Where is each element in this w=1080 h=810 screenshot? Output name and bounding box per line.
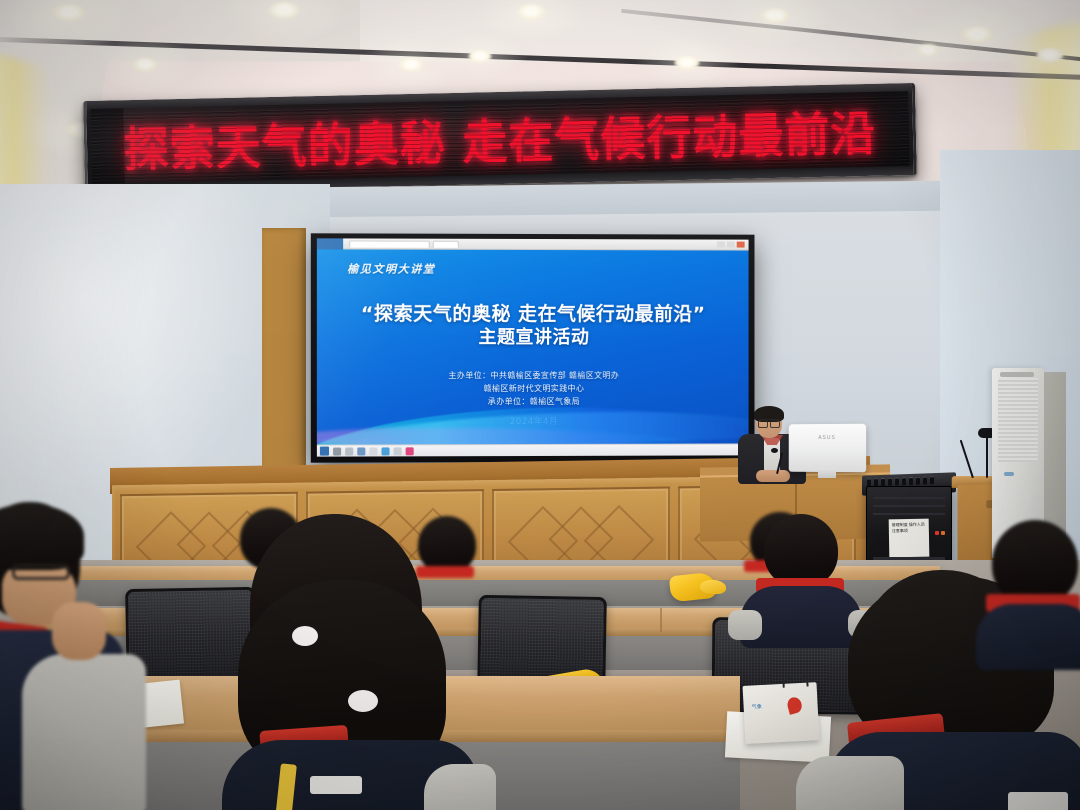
yellow-cap-1	[669, 572, 717, 603]
minimize-icon[interactable]	[717, 242, 725, 248]
monitor-brand-label: ASUS	[818, 435, 835, 441]
podium-mic-stem	[986, 434, 988, 478]
student-hair	[0, 504, 84, 570]
student-sleeve	[796, 756, 904, 810]
taskbar-icon[interactable]	[369, 447, 377, 455]
ac-display-panel	[1000, 372, 1034, 377]
projection-screen[interactable]: 榆见文明大讲堂 “探索天气的奥秘 走在气候行动最前沿” 主题宣讲活动 主办单位：…	[311, 233, 755, 462]
led-banner-text: 探索天气的奥秘 走在气候行动最前沿	[123, 95, 877, 180]
wood-pilaster-left	[262, 228, 306, 496]
hair-tie	[292, 626, 318, 646]
downlight	[52, 4, 86, 22]
student-front-center	[198, 514, 478, 810]
mic-capsule-icon	[771, 448, 778, 453]
ac-indicator	[1004, 472, 1014, 476]
bag-logo-text: 气象	[751, 703, 762, 711]
student-front-left	[0, 502, 146, 810]
rack-status-led	[935, 531, 939, 535]
window-controls[interactable]	[717, 242, 745, 248]
maximize-icon[interactable]	[727, 242, 735, 248]
downlight	[398, 58, 424, 72]
student-body	[976, 604, 1080, 670]
slide-org-line-2: 赣榆区新时代文明实践中心	[317, 382, 749, 396]
presenter-monitor: ASUS	[789, 424, 866, 473]
downlight	[916, 44, 940, 57]
paper-gift-bag: 气象	[743, 682, 820, 744]
downlight	[132, 58, 158, 72]
downlight	[1036, 48, 1064, 63]
uniform-patch	[1008, 792, 1068, 810]
taskbar-icon[interactable]	[394, 447, 402, 455]
rack-slot	[873, 497, 945, 499]
window-app-badge	[317, 238, 343, 249]
taskbar-icon[interactable]	[406, 447, 414, 455]
taskbar-icon[interactable]	[357, 447, 365, 455]
student-sleeve	[22, 654, 146, 810]
bag-logo-icon	[786, 696, 804, 715]
rack-instruction-label: 管理制度 操作人员 注意事项	[889, 519, 930, 558]
downlight	[268, 2, 300, 19]
close-icon[interactable]	[737, 242, 745, 248]
desk-seam	[660, 608, 662, 632]
windows-taskbar[interactable]	[317, 443, 749, 456]
student-hand	[52, 602, 106, 660]
student-sleeve	[424, 764, 496, 810]
monitor-stand	[818, 468, 836, 478]
slide-brand-logo: 榆见文明大讲堂	[347, 261, 435, 277]
downlight	[674, 56, 700, 70]
speaker-hands	[756, 470, 790, 482]
student-glasses-icon	[12, 564, 70, 580]
ac-vent-grille	[998, 378, 1038, 462]
uniform-name-badge	[310, 776, 362, 794]
taskbar-icon[interactable]	[381, 447, 389, 455]
slide-title: “探索天气的奥秘 走在气候行动最前沿” 主题宣讲活动	[317, 302, 749, 350]
browser-tab[interactable]	[349, 240, 430, 247]
slide-org-line-1: 主办单位：中共赣榆区委宣传部 赣榆区文明办	[317, 369, 749, 383]
bag-handle	[782, 675, 809, 688]
presentation-slide: 榆见文明大讲堂 “探索天气的奥秘 走在气候行动最前沿” 主题宣讲活动 主办单位：…	[317, 249, 749, 444]
downlight	[760, 8, 790, 24]
rack-slot	[873, 505, 945, 507]
slide-org-line-3: 承办单位：赣榆区气象局	[317, 395, 749, 409]
student-sleeve	[728, 610, 762, 640]
projection-screen-display: 榆见文明大讲堂 “探索天气的奥秘 走在气候行动最前沿” 主题宣讲活动 主办单位：…	[317, 238, 749, 456]
led-banner: 探索天气的奥秘 走在气候行动最前沿	[83, 83, 917, 193]
rack-slot	[873, 513, 945, 515]
downlight	[468, 50, 492, 63]
photo-scene: 探索天气的奥秘 走在气候行动最前沿	[0, 0, 1080, 810]
hair-tie	[348, 690, 378, 712]
browser-tab[interactable]	[433, 240, 459, 247]
start-button-icon[interactable]	[320, 447, 329, 456]
student-right-edge	[986, 520, 1080, 660]
speaker-glasses-icon	[758, 419, 780, 425]
rack-status-led	[941, 531, 945, 535]
mixer-fader-row[interactable]	[867, 476, 934, 486]
taskbar-icon[interactable]	[333, 447, 341, 455]
taskbar-icon[interactable]	[345, 447, 353, 455]
slide-title-line-1: “探索天气的奥秘 走在气候行动最前沿”	[317, 302, 749, 327]
slide-organizers: 主办单位：中共赣榆区委宣传部 赣榆区文明办 赣榆区新时代文明实践中心 承办单位：…	[317, 369, 749, 409]
slide-title-line-2: 主题宣讲活动	[317, 326, 749, 349]
downlight	[516, 4, 546, 20]
